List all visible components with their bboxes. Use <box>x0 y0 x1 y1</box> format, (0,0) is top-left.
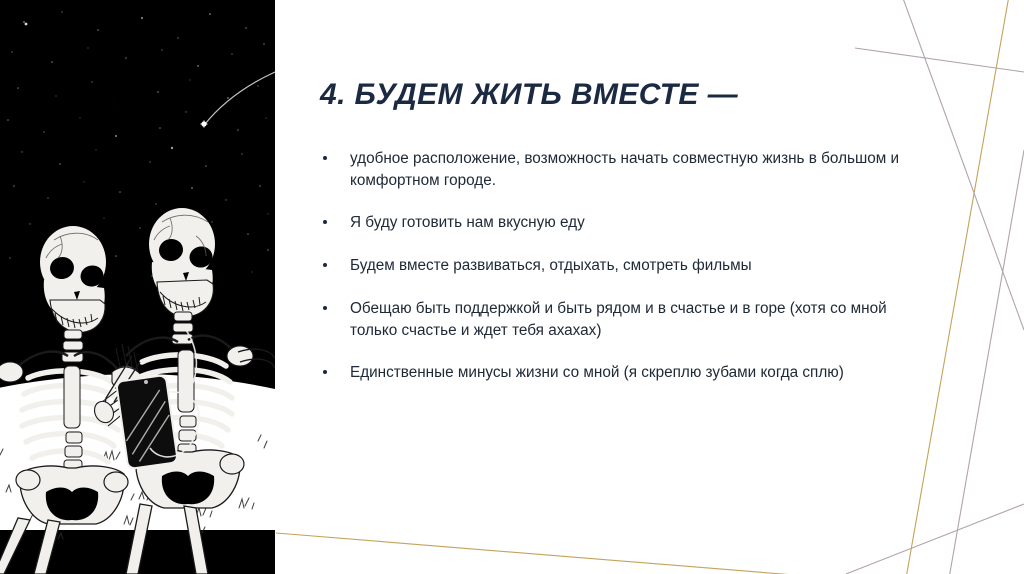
list-item-text: Обещаю быть поддержкой и быть рядом и в … <box>350 300 887 339</box>
page-title: 4. БУДЕМ ЖИТЬ ВМЕСТЕ — <box>320 78 960 113</box>
list-item: Единственные минусы жизни со мной (я скр… <box>320 362 920 384</box>
list-item: Будем вместе развиваться, отдыхать, смот… <box>320 255 920 277</box>
list-item: удобное расположение, возможность начать… <box>320 148 920 191</box>
list-item: Я буду готовить нам вкусную еду <box>320 212 920 234</box>
bullet-dot-icon <box>323 156 327 160</box>
list-item-text: Будем вместе развиваться, отдыхать, смот… <box>350 257 752 274</box>
bullet-list: удобное расположение, возможность начать… <box>320 148 920 384</box>
bullet-dot-icon <box>323 220 327 224</box>
slide-canvas: 4. БУДЕМ ЖИТЬ ВМЕСТЕ — удобное расположе… <box>0 0 1024 574</box>
bullet-dot-icon <box>323 263 327 267</box>
slide-content: 4. БУДЕМ ЖИТЬ ВМЕСТЕ — удобное расположе… <box>275 0 1024 574</box>
list-item-text: Единственные минусы жизни со мной (я скр… <box>350 364 844 381</box>
list-item-text: Я буду готовить нам вкусную еду <box>350 214 585 231</box>
list-item: Обещаю быть поддержкой и быть рядом и в … <box>320 298 920 341</box>
illustration-skeletons-on-moon <box>0 0 275 574</box>
bullet-dot-icon <box>323 370 327 374</box>
bullet-dot-icon <box>323 306 327 310</box>
list-item-text: удобное расположение, возможность начать… <box>350 150 899 189</box>
smartphone-icon <box>116 375 178 469</box>
